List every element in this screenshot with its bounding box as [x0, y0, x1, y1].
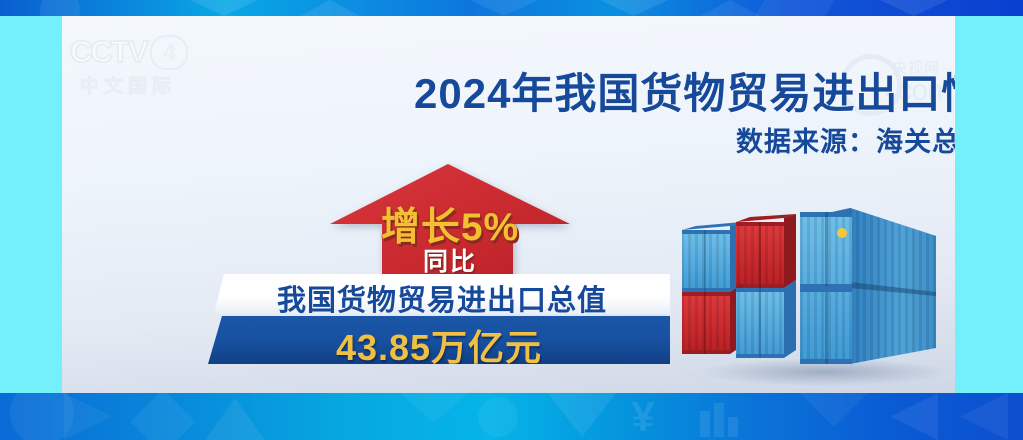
- decor-triangle: [600, 0, 668, 16]
- metric-name-bar: 我国货物贸易进出口总值: [214, 274, 670, 314]
- metric-value-bar: 43.85万亿元: [208, 316, 670, 364]
- right-cyan-rail: [955, 16, 1023, 393]
- metric-name-label: 我国货物贸易进出口总值: [214, 277, 670, 319]
- decor-triangle: [205, 398, 265, 440]
- decor-circle: [478, 397, 518, 437]
- decor-bar-chart-icon: [700, 411, 710, 437]
- data-source-label: 数据来源：海关总署: [736, 120, 955, 159]
- top-decorative-band: [0, 0, 1023, 16]
- page-title: 2024年我国货物贸易进出口情况: [414, 60, 955, 121]
- containers-icon: [674, 200, 955, 390]
- decor-triangle: [300, 0, 360, 16]
- decor-slash: [755, 0, 834, 16]
- yuan-symbol-icon: ¥: [620, 397, 666, 437]
- decor-triangle: [190, 0, 258, 16]
- decor-triangle: [700, 0, 760, 16]
- decor-bar-chart-icon: [714, 403, 724, 437]
- decor-chevron: [890, 393, 938, 440]
- cctv-logo-subtitle: 中文国际: [80, 71, 230, 98]
- decor-chevron: [960, 393, 1008, 440]
- metric-value-label: 43.85万亿元: [208, 319, 670, 371]
- decor-chevron: [64, 393, 112, 440]
- decor-circle: [40, 0, 80, 16]
- decor-triangle: [800, 393, 868, 427]
- shipping-containers-graphic: [674, 200, 955, 390]
- decor-triangle: [400, 393, 468, 423]
- decor-triangle: [548, 393, 616, 437]
- year-over-year-label: 同比: [330, 242, 570, 278]
- left-cyan-rail: [0, 16, 62, 393]
- cctv-logo-row: CCTV 4: [70, 34, 230, 70]
- decor-triangle: [880, 0, 948, 16]
- infographic-slide: CCTV 4 中文国际 央视网 .com 2024年我国货物贸易进出口情况 数据…: [0, 0, 1023, 440]
- content-plate: CCTV 4 中文国际 央视网 .com 2024年我国货物贸易进出口情况 数据…: [62, 16, 955, 393]
- decor-diamond: [130, 393, 195, 440]
- cctv-wordmark: CCTV: [70, 34, 146, 70]
- cctv-channel-number: 4: [150, 35, 188, 70]
- cctv4-logo: CCTV 4 中文国际: [70, 34, 230, 96]
- decor-bar-chart-icon: [728, 417, 738, 437]
- bottom-decorative-band: ¥: [0, 393, 1023, 440]
- decor-triangle: [470, 0, 538, 16]
